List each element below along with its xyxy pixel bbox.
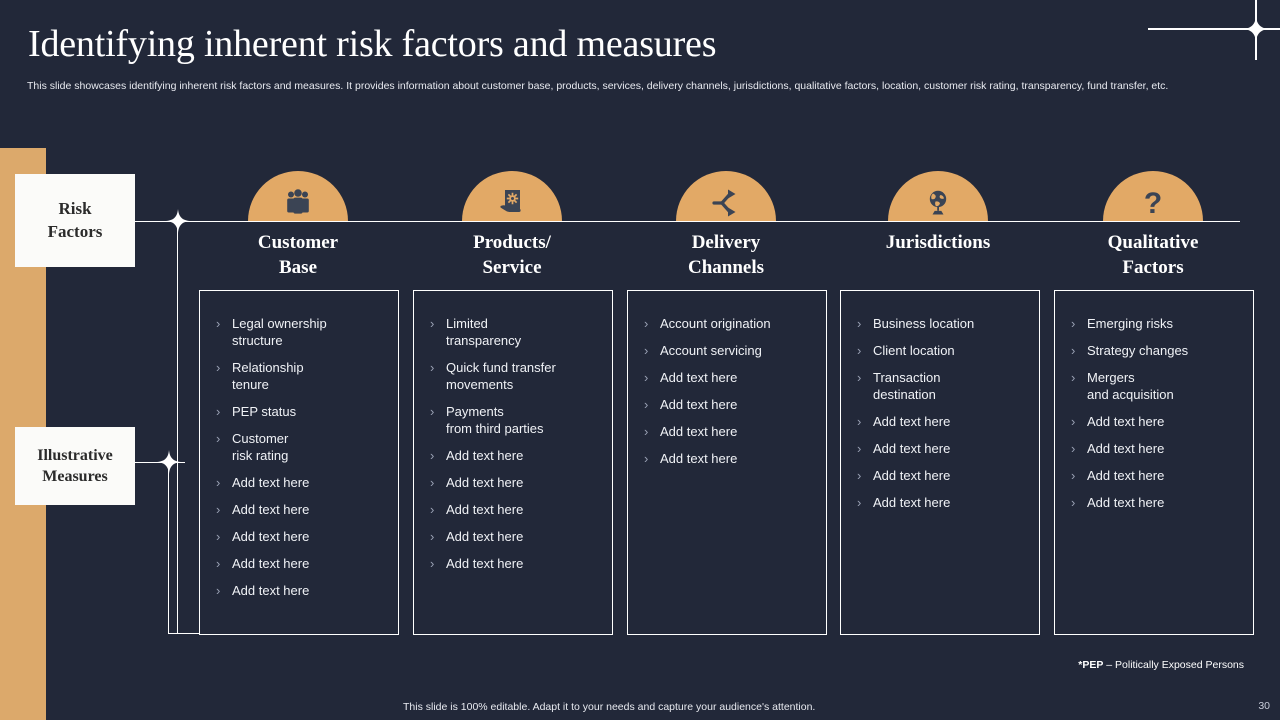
list-item-label: Add text here <box>660 423 737 440</box>
list-item-label: Account servicing <box>660 342 762 359</box>
chevron-right-icon: › <box>216 501 232 518</box>
svg-text:?: ? <box>1144 187 1162 218</box>
chevron-right-icon: › <box>1071 440 1087 457</box>
chevron-right-icon: › <box>857 467 873 484</box>
chevron-right-icon: › <box>857 315 873 332</box>
list-item-label: Add text here <box>232 555 309 572</box>
vertical-rail-foot <box>168 633 200 634</box>
list-item[interactable]: ›Transaction destination <box>857 369 1029 403</box>
list-item[interactable]: ›Add text here <box>1071 413 1243 430</box>
list-item[interactable]: ›Relationship tenure <box>216 359 388 393</box>
footer-note: This slide is 100% editable. Adapt it to… <box>403 701 815 713</box>
column-title: Customer Base <box>218 231 378 280</box>
list-item[interactable]: ›Payments from third parties <box>430 403 602 437</box>
chevron-right-icon: › <box>216 315 232 332</box>
page-title: Identifying inherent risk factors and me… <box>28 22 716 66</box>
chevron-right-icon: › <box>430 501 446 518</box>
list-item[interactable]: ›Add text here <box>430 501 602 518</box>
bullet-box-jurisdictions: ›Business location›Client location›Trans… <box>840 290 1040 635</box>
label-illustrative-measures: Illustrative Measures <box>15 427 135 505</box>
list-item[interactable]: ›Account servicing <box>644 342 816 359</box>
list-item-label: Add text here <box>660 396 737 413</box>
list-item[interactable]: ›Add text here <box>430 474 602 491</box>
list-item-label: Add text here <box>446 501 523 518</box>
chevron-right-icon: › <box>430 359 446 376</box>
list-item-label: Add text here <box>446 528 523 545</box>
list-item[interactable]: ›Add text here <box>216 555 388 572</box>
chevron-right-icon: › <box>644 396 660 413</box>
list-item[interactable]: ›Add text here <box>644 396 816 413</box>
chevron-right-icon: › <box>430 474 446 491</box>
chevron-right-icon: › <box>430 403 446 420</box>
chevron-right-icon: › <box>644 315 660 332</box>
list-item-label: PEP status <box>232 403 296 420</box>
list-item[interactable]: ›Add text here <box>216 474 388 491</box>
list-item[interactable]: ›Add text here <box>1071 467 1243 484</box>
list-item[interactable]: ›Account origination <box>644 315 816 332</box>
chevron-right-icon: › <box>216 474 232 491</box>
top-right-vertical-rule <box>1255 0 1257 60</box>
globe-stand-icon <box>923 188 953 221</box>
icon-badge-customer-base <box>248 171 348 221</box>
list-item[interactable]: ›Add text here <box>430 528 602 545</box>
column-title: Qualitative Factors <box>1073 231 1233 280</box>
chevron-right-icon: › <box>1071 413 1087 430</box>
question-mark-icon: ? <box>1138 186 1168 221</box>
list-item-label: Mergers and acquisition <box>1087 369 1174 403</box>
vertical-rail-outer <box>177 221 178 634</box>
chevron-right-icon: › <box>1071 369 1087 386</box>
chevron-right-icon: › <box>430 528 446 545</box>
icon-badge-qualitative-factors: ? <box>1103 171 1203 221</box>
list-item[interactable]: ›PEP status <box>216 403 388 420</box>
list-item[interactable]: ›Client location <box>857 342 1029 359</box>
column-title: Products/ Service <box>432 231 592 280</box>
list-item[interactable]: ›Add text here <box>857 440 1029 457</box>
bullet-box-products-service: ›Limited transparency›Quick fund transfe… <box>413 290 613 635</box>
list-item-label: Add text here <box>232 528 309 545</box>
label-risk-factors: Risk Factors <box>15 174 135 267</box>
list-item-label: Legal ownership structure <box>232 315 327 349</box>
people-group-icon <box>283 188 313 221</box>
list-item-label: Add text here <box>1087 467 1164 484</box>
list-item[interactable]: ›Add text here <box>216 528 388 545</box>
column-header-qualitative-factors[interactable]: ? Qualitative Factors <box>1073 171 1233 280</box>
list-item-label: Quick fund transfer movements <box>446 359 556 393</box>
list-item[interactable]: ›Mergers and acquisition <box>1071 369 1243 403</box>
bullet-box-customer-base: ›Legal ownership structure›Relationship … <box>199 290 399 635</box>
chevron-right-icon: › <box>430 315 446 332</box>
list-item[interactable]: ›Legal ownership structure <box>216 315 388 349</box>
list-item[interactable]: ›Add text here <box>216 582 388 599</box>
list-item-label: Add text here <box>873 467 950 484</box>
list-item-label: Add text here <box>660 369 737 386</box>
icon-badge-products-service <box>462 171 562 221</box>
list-item-label: Add text here <box>660 450 737 467</box>
icon-badge-jurisdictions <box>888 171 988 221</box>
list-item-label: Emerging risks <box>1087 315 1173 332</box>
list-item[interactable]: ›Add text here <box>644 450 816 467</box>
chevron-right-icon: › <box>216 582 232 599</box>
list-item[interactable]: ›Strategy changes <box>1071 342 1243 359</box>
slide-root: Identifying inherent risk factors and me… <box>0 0 1280 720</box>
list-item-label: Add text here <box>232 474 309 491</box>
list-item[interactable]: ›Add text here <box>857 494 1029 511</box>
list-item-label: Add text here <box>446 555 523 572</box>
chevron-right-icon: › <box>216 403 232 420</box>
chevron-right-icon: › <box>1071 342 1087 359</box>
chevron-right-icon: › <box>857 413 873 430</box>
list-item-label: Add text here <box>232 501 309 518</box>
chevron-right-icon: › <box>216 555 232 572</box>
chevron-right-icon: › <box>1071 494 1087 511</box>
list-item-label: Customer risk rating <box>232 430 288 464</box>
list-item[interactable]: ›Add text here <box>857 413 1029 430</box>
column-title: Jurisdictions <box>858 231 1018 256</box>
footnote-abbrev: *PEP <box>1078 659 1103 671</box>
list-item-label: Add text here <box>1087 494 1164 511</box>
list-item-label: Add text here <box>873 494 950 511</box>
column-header-delivery-channels[interactable]: Delivery Channels <box>646 171 806 280</box>
list-item[interactable]: ›Add text here <box>857 467 1029 484</box>
page-number: 30 <box>1258 700 1270 712</box>
list-item-label: Add text here <box>873 413 950 430</box>
top-right-horizontal-rule <box>1148 28 1280 30</box>
chevron-right-icon: › <box>1071 315 1087 332</box>
column-header-products-service[interactable]: Products/ Service <box>432 171 592 280</box>
bullet-box-delivery-channels: ›Account origination›Account servicing›A… <box>627 290 827 635</box>
list-item[interactable]: ›Add text here <box>644 423 816 440</box>
chevron-right-icon: › <box>216 430 232 447</box>
footnote-expansion: – Politically Exposed Persons <box>1103 659 1244 671</box>
column-header-customer-base[interactable]: Customer Base <box>218 171 378 280</box>
list-item-label: Transaction destination <box>873 369 940 403</box>
list-item-label: Business location <box>873 315 974 332</box>
page-subtitle: This slide showcases identifying inheren… <box>27 79 1239 94</box>
list-item-label: Relationship tenure <box>232 359 304 393</box>
list-item-label: Limited transparency <box>446 315 521 349</box>
list-item[interactable]: ›Limited transparency <box>430 315 602 349</box>
chevron-right-icon: › <box>644 450 660 467</box>
list-item-label: Payments from third parties <box>446 403 544 437</box>
list-item-label: Strategy changes <box>1087 342 1188 359</box>
chevron-right-icon: › <box>857 369 873 386</box>
list-item-label: Client location <box>873 342 955 359</box>
chevron-right-icon: › <box>644 423 660 440</box>
bullet-box-qualitative-factors: ›Emerging risks›Strategy changes›Mergers… <box>1054 290 1254 635</box>
share-branch-icon <box>710 188 742 221</box>
list-item[interactable]: ›Add text here <box>430 447 602 464</box>
footnote-pep: *PEP – Politically Exposed Persons <box>1078 659 1244 671</box>
list-item[interactable]: ›Add text here <box>216 501 388 518</box>
list-item[interactable]: ›Add text here <box>1071 494 1243 511</box>
list-item-label: Add text here <box>446 447 523 464</box>
list-item-label: Add text here <box>1087 440 1164 457</box>
list-item-label: Add text here <box>873 440 950 457</box>
list-item[interactable]: ›Customer risk rating <box>216 430 388 464</box>
list-item[interactable]: ›Add text here <box>430 555 602 572</box>
chevron-right-icon: › <box>216 528 232 545</box>
list-item[interactable]: ›Quick fund transfer movements <box>430 359 602 393</box>
chevron-right-icon: › <box>644 369 660 386</box>
list-item[interactable]: ›Emerging risks <box>1071 315 1243 332</box>
chevron-right-icon: › <box>857 440 873 457</box>
chevron-right-icon: › <box>1071 467 1087 484</box>
chevron-right-icon: › <box>216 359 232 376</box>
hand-document-gear-icon <box>497 188 527 221</box>
chevron-right-icon: › <box>644 342 660 359</box>
list-item-label: Account origination <box>660 315 771 332</box>
vertical-rail-inner <box>168 462 169 634</box>
column-title: Delivery Channels <box>646 231 806 280</box>
list-item[interactable]: ›Business location <box>857 315 1029 332</box>
list-item[interactable]: ›Add text here <box>1071 440 1243 457</box>
column-header-jurisdictions[interactable]: Jurisdictions <box>858 171 1018 256</box>
list-item-label: Add text here <box>446 474 523 491</box>
list-item[interactable]: ›Add text here <box>644 369 816 386</box>
chevron-right-icon: › <box>857 342 873 359</box>
list-item-label: Add text here <box>232 582 309 599</box>
chevron-right-icon: › <box>430 447 446 464</box>
list-item-label: Add text here <box>1087 413 1164 430</box>
icon-badge-delivery-channels <box>676 171 776 221</box>
chevron-right-icon: › <box>430 555 446 572</box>
chevron-right-icon: › <box>857 494 873 511</box>
